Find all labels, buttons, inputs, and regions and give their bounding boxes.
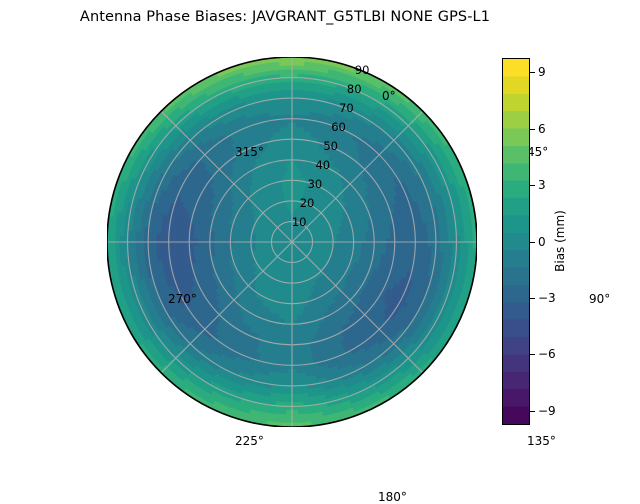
colorbar-tick-label: −3 bbox=[538, 292, 556, 304]
radial-tick-label: 70 bbox=[339, 103, 354, 115]
azimuth-tick-225: 225° bbox=[235, 435, 264, 447]
colorbar-tick-mark bbox=[530, 354, 535, 355]
colorbar-tick-mark bbox=[530, 411, 535, 412]
polar-contour-svg bbox=[107, 57, 477, 427]
radial-tick-label: 40 bbox=[315, 160, 330, 172]
radial-tick-label: 50 bbox=[323, 141, 338, 153]
radial-tick-label: 90 bbox=[355, 65, 370, 77]
figure-canvas: Antenna Phase Biases: JAVGRANT_G5TLBI NO… bbox=[0, 0, 640, 480]
colorbar-tick-mark bbox=[530, 298, 535, 299]
colorbar-tick-label: 9 bbox=[538, 66, 546, 78]
radial-tick-label: 10 bbox=[292, 217, 307, 229]
colorbar-tick-mark bbox=[530, 185, 535, 186]
colorbar-tick-label: −9 bbox=[538, 405, 556, 417]
colorbar-axis-label: Bias (mm) bbox=[553, 210, 567, 272]
colorbar-gradient bbox=[502, 58, 530, 425]
azimuth-tick-90: 90° bbox=[589, 293, 610, 305]
colorbar-tick-mark bbox=[530, 72, 535, 73]
colorbar-tick-mark bbox=[530, 242, 535, 243]
colorbar-tick-label: 6 bbox=[538, 123, 546, 135]
page-title: Antenna Phase Biases: JAVGRANT_G5TLBI NO… bbox=[0, 9, 570, 25]
azimuth-tick-45: 45° bbox=[527, 146, 548, 158]
radial-tick-label: 80 bbox=[347, 84, 362, 96]
colorbar-tick-mark bbox=[530, 129, 535, 130]
colorbar[interactable]: 9630−3−6−9 bbox=[502, 58, 530, 425]
azimuth-tick-180: 180° bbox=[378, 491, 407, 503]
polar-plot[interactable]: 0° 45° 90° 135° 180° 225° 270° 315° 1020… bbox=[107, 57, 477, 427]
colorbar-tick-label: 0 bbox=[538, 236, 546, 248]
radial-tick-label: 60 bbox=[331, 122, 346, 134]
azimuth-tick-0: 0° bbox=[382, 90, 396, 102]
colorbar-tick-label: 3 bbox=[538, 179, 546, 191]
radial-tick-label: 20 bbox=[300, 198, 315, 210]
radial-tick-label: 30 bbox=[308, 179, 323, 191]
azimuth-tick-135: 135° bbox=[527, 435, 556, 447]
azimuth-tick-315: 315° bbox=[235, 146, 264, 158]
colorbar-tick-label: −6 bbox=[538, 348, 556, 360]
polar-grid bbox=[107, 57, 477, 427]
azimuth-tick-270: 270° bbox=[168, 293, 197, 305]
